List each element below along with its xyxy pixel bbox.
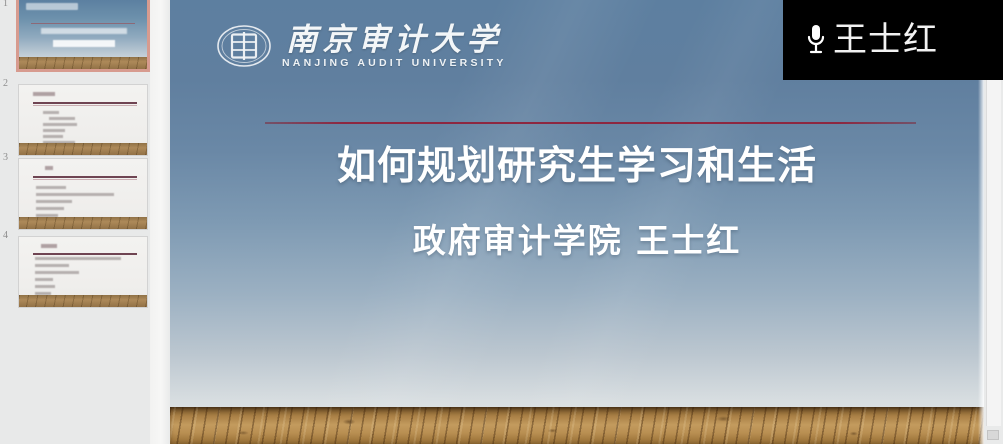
scrollbar-button[interactable] [987, 430, 999, 440]
thumbnail-preview-4[interactable] [18, 236, 148, 308]
thumbnail-number-1: 1 [3, 0, 17, 10]
thumbnail-body-line [43, 111, 59, 114]
university-emblem-icon [216, 18, 272, 74]
thumbnail-body-line [43, 135, 63, 138]
thumbnail-heading [33, 92, 55, 96]
thumbnail-content-slide-art [19, 85, 147, 155]
presentation-viewer-window: 1 2 [0, 0, 1003, 444]
thumbnail-title-slide-art [19, 0, 147, 69]
thumbnail-preview-3[interactable] [18, 158, 148, 230]
scrollbar-track[interactable] [986, 80, 1001, 426]
thumbnail-number-3: 3 [3, 152, 17, 164]
university-name-block: 南京审计大学 NANJING AUDIT UNIVERSITY [282, 24, 507, 69]
thumbnail-preview-1[interactable] [16, 0, 150, 72]
slide-title: 如何规划研究生学习和生活 [170, 135, 984, 191]
active-speaker-name: 王士红 [833, 23, 938, 57]
thumbnail-rule [33, 102, 137, 104]
thumbnail-rule [33, 176, 137, 178]
thumbnail-content-slide-art [19, 159, 147, 229]
thumbnail-body-line [43, 123, 77, 126]
thumbnail-floor [19, 217, 147, 229]
thumbnail-preview-2[interactable] [18, 84, 148, 156]
slide-thumbnail-panel[interactable]: 1 2 [0, 0, 168, 444]
thumbnail-rule-secondary [33, 179, 137, 180]
thumbnail-body-line [49, 117, 75, 120]
panel-divider [150, 0, 170, 444]
thumbnail-content-slide-art [19, 237, 147, 307]
microphone-icon [805, 23, 827, 57]
thumbnail-body-line [36, 193, 114, 196]
thumbnail-number-4: 4 [3, 230, 17, 242]
thumbnail-floor [19, 57, 147, 69]
thumbnail-body-line [36, 207, 64, 210]
thumbnail-logo-icon [26, 3, 78, 10]
thumbnail-subtitle-text [53, 40, 115, 47]
slide-floor-graphic [170, 407, 984, 444]
thumbnail-body-line [36, 200, 72, 203]
slide-subtitle: 政府审计学院 王士红 [170, 214, 984, 262]
thumbnail-rule-secondary [33, 105, 137, 106]
thumbnail-floor [19, 143, 147, 155]
university-name-en: NANJING AUDIT UNIVERSITY [282, 58, 507, 69]
thumbnail-body-line [35, 285, 55, 288]
thumbnail-title-text [41, 28, 127, 34]
thumbnail-body-line [35, 271, 79, 274]
thumbnail-number-2: 2 [3, 78, 17, 90]
thumbnail-floor [19, 295, 147, 307]
thumbnail-body-line [35, 257, 121, 260]
thumbnail-rule [33, 253, 137, 255]
thumbnail-rule [31, 23, 135, 24]
thumbnail-body-line [43, 129, 65, 132]
thumbnail-body-line [35, 278, 53, 281]
university-name-cn: 南京审计大学 [286, 24, 502, 55]
thumbnail-heading [41, 244, 57, 248]
thumbnail-heading [45, 166, 53, 170]
thumbnail-body-line [36, 186, 66, 189]
university-logo: 南京审计大学 NANJING AUDIT UNIVERSITY [216, 18, 507, 74]
active-speaker-overlay: 王士红 [783, 0, 1003, 80]
title-divider-rule [265, 122, 916, 124]
thumbnail-body-line [35, 264, 69, 267]
